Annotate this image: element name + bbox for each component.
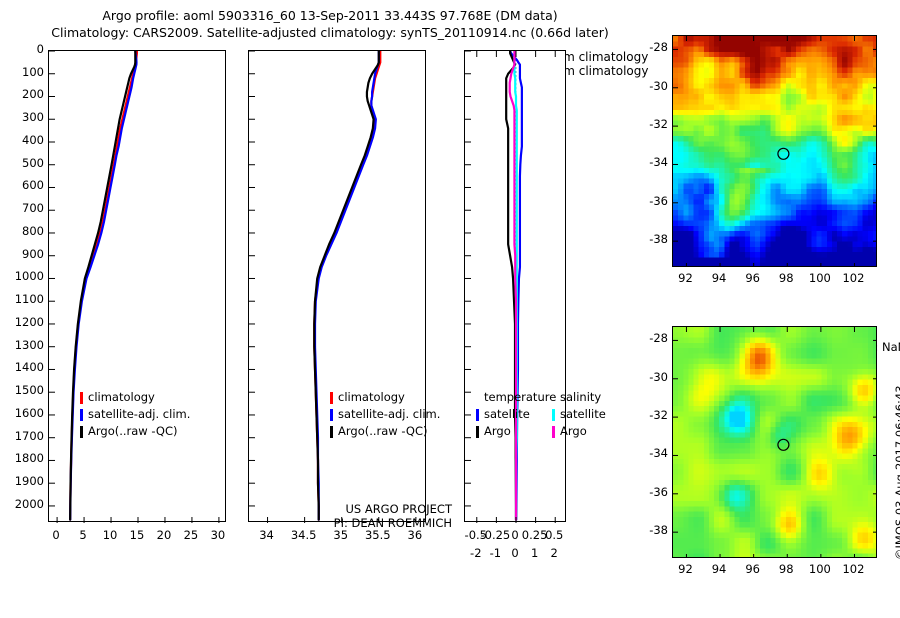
profile-line-argo-raw-qc- bbox=[70, 51, 135, 520]
depth-tick-100: 100 bbox=[6, 65, 44, 79]
legend-label-salinity-1: satellite-adj. clim. bbox=[338, 407, 440, 421]
legend-label-temperature-satellite: satellite bbox=[484, 407, 530, 421]
depth-tick-500: 500 bbox=[6, 156, 44, 170]
map-lat-tick-sst-2: -32 bbox=[638, 117, 668, 131]
legend-swatch-0 bbox=[80, 392, 83, 404]
map-lat-tick-sst-1: -30 bbox=[638, 79, 668, 93]
legend-swatch-salinity-0 bbox=[552, 409, 555, 421]
xtick-sal-4: 36 bbox=[391, 528, 439, 542]
sst-map-panel: 92949698100102-28-30-32-34-36-38sat. SST… bbox=[672, 35, 900, 327]
depth-tick-2000: 2000 bbox=[6, 497, 44, 511]
map-lat-tick-sla-1: -30 bbox=[638, 370, 668, 384]
xtick-top-diff-4: 0.5 bbox=[530, 528, 578, 542]
copyright-text: ©IMOS 03-Aug-2017 06:46:43 bbox=[893, 385, 900, 560]
map-lat-tick-sst-5: -38 bbox=[638, 232, 668, 246]
map-lon-tick-sst-5: 102 bbox=[833, 271, 873, 285]
profile-line-argo-raw-qc- bbox=[314, 51, 379, 520]
map-lat-tick-sla-0: -28 bbox=[638, 331, 668, 345]
xtick-temp-6: 30 bbox=[194, 528, 242, 542]
depth-tick-600: 600 bbox=[6, 178, 44, 192]
legend-label-salinity-2: Argo(..raw -QC) bbox=[338, 424, 428, 438]
map-lat-tick-sla-5: -38 bbox=[638, 523, 668, 537]
difference-axes bbox=[464, 50, 566, 522]
legend-label-temperature-0: climatology bbox=[88, 390, 155, 404]
legend-label-salinity-0: climatology bbox=[338, 390, 405, 404]
depth-tick-1100: 1100 bbox=[6, 292, 44, 306]
legend-swatch-salinity-1 bbox=[552, 426, 555, 438]
temperature-axes bbox=[48, 50, 226, 522]
depth-tick-1700: 1700 bbox=[6, 429, 44, 443]
salinity-axes bbox=[248, 50, 426, 522]
depth-tick-200: 200 bbox=[6, 87, 44, 101]
depth-tick-1000: 1000 bbox=[6, 269, 44, 283]
chart-title-line2: Climatology: CARS2009. Satellite-adjuste… bbox=[0, 25, 660, 40]
map-lat-tick-sst-4: -36 bbox=[638, 194, 668, 208]
legend-label-salinity-satellite: satellite bbox=[560, 407, 606, 421]
depth-tick-900: 900 bbox=[6, 247, 44, 261]
legend-header-salinity: salinity bbox=[560, 390, 601, 404]
depth-tick-800: 800 bbox=[6, 224, 44, 238]
map-lon-tick-sla-5: 102 bbox=[833, 562, 873, 576]
legend-swatch-1 bbox=[80, 409, 83, 421]
profile-line-climatology bbox=[314, 51, 380, 520]
profile-line-climatology bbox=[70, 51, 137, 520]
legend-swatch-2 bbox=[80, 426, 83, 438]
depth-tick-1800: 1800 bbox=[6, 451, 44, 465]
project-credit: US ARGO PROJECT bbox=[300, 502, 452, 516]
legend-swatch-salinity-2 bbox=[330, 426, 333, 438]
chart-title-line1: Argo profile: aoml 5903316_60 13-Sep-201… bbox=[0, 8, 660, 23]
sst-map-axes bbox=[672, 35, 877, 267]
depth-tick-1200: 1200 bbox=[6, 315, 44, 329]
legend-swatch-temperature-1 bbox=[476, 426, 479, 438]
depth-tick-1300: 1300 bbox=[6, 338, 44, 352]
legend-label-temperature-Argo: Argo bbox=[484, 424, 511, 438]
profile-line-satellite-adj-clim- bbox=[315, 51, 379, 520]
legend-label-temperature-1: satellite-adj. clim. bbox=[88, 407, 190, 421]
xtick-diff-4: 2 bbox=[530, 546, 578, 560]
profile-line-satellite-adj-clim- bbox=[70, 51, 136, 520]
depth-tick-1400: 1400 bbox=[6, 360, 44, 374]
legend-swatch-salinity-1 bbox=[330, 409, 333, 421]
map-lat-tick-sst-0: -28 bbox=[638, 40, 668, 54]
depth-tick-1500: 1500 bbox=[6, 383, 44, 397]
map-lat-tick-sla-3: -34 bbox=[638, 446, 668, 460]
map-lat-tick-sla-4: -36 bbox=[638, 485, 668, 499]
depth-tick-300: 300 bbox=[6, 110, 44, 124]
depth-tick-700: 700 bbox=[6, 201, 44, 215]
pi-credit: PI: DEAN ROEMMICH bbox=[300, 516, 452, 530]
map-lat-tick-sla-2: -32 bbox=[638, 408, 668, 422]
depth-tick-0: 0 bbox=[6, 42, 44, 56]
map-lat-tick-sst-3: -34 bbox=[638, 155, 668, 169]
depth-tick-400: 400 bbox=[6, 133, 44, 147]
legend-label-temperature-2: Argo(..raw -QC) bbox=[88, 424, 178, 438]
sla-map-axes bbox=[672, 326, 877, 558]
depth-tick-1900: 1900 bbox=[6, 474, 44, 488]
sla-map-panel: 92949698100102-28-30-32-34-36-38Altim. S… bbox=[672, 326, 900, 618]
legend-header-temperature: temperature bbox=[484, 390, 556, 404]
legend-label-salinity-Argo: Argo bbox=[560, 424, 587, 438]
depth-tick-1600: 1600 bbox=[6, 406, 44, 420]
legend-swatch-salinity-0 bbox=[330, 392, 333, 404]
legend-swatch-temperature-0 bbox=[476, 409, 479, 421]
